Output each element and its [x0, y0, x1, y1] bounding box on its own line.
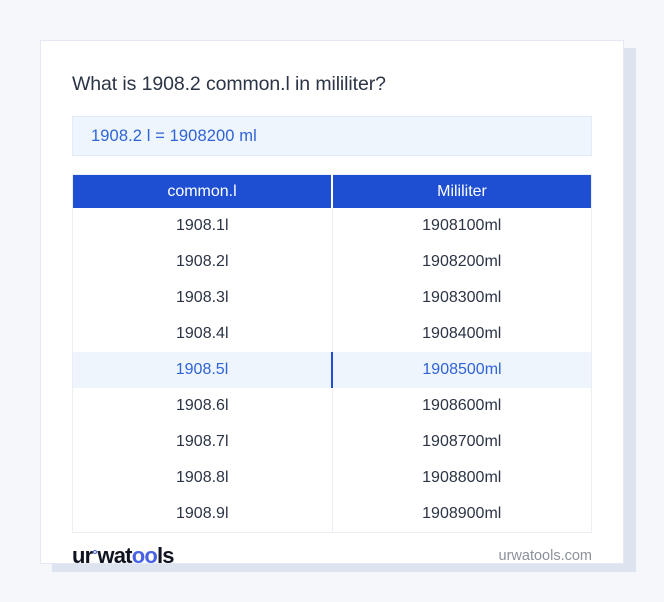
- table-row[interactable]: 1908.1l 1908100ml: [73, 208, 592, 244]
- cell-from: 1908.9l: [73, 496, 333, 533]
- cell-from: 1908.4l: [73, 316, 333, 352]
- table-row[interactable]: 1908.3l 1908300ml: [73, 280, 592, 316]
- table-header: common.l Mililiter: [73, 175, 592, 209]
- conversion-card: What is 1908.2 common.l in mililiter? 19…: [40, 40, 624, 564]
- cell-to: 1908400ml: [332, 316, 592, 352]
- cell-from: 1908.8l: [73, 460, 333, 496]
- table-row-highlighted[interactable]: 1908.5l 1908500ml: [73, 352, 592, 388]
- cell-to: 1908100ml: [332, 208, 592, 244]
- logo-part-ur: ur: [72, 545, 92, 567]
- logo-part-wat: wat: [97, 545, 131, 567]
- cell-from: 1908.1l: [73, 208, 333, 244]
- cell-from: 1908.7l: [73, 424, 333, 460]
- table-row[interactable]: 1908.8l 1908800ml: [73, 460, 592, 496]
- card-content: What is 1908.2 common.l in mililiter? 19…: [41, 41, 623, 533]
- column-header-mililiter: Mililiter: [332, 175, 592, 209]
- logo-part-oo: oo: [132, 545, 157, 567]
- cell-from: 1908.2l: [73, 244, 333, 280]
- table-row[interactable]: 1908.9l 1908900ml: [73, 496, 592, 533]
- cell-to: 1908600ml: [332, 388, 592, 424]
- table-row[interactable]: 1908.2l 1908200ml: [73, 244, 592, 280]
- cell-to: 1908900ml: [332, 496, 592, 533]
- card-footer: urwatools urwatools.com: [41, 533, 623, 569]
- cell-to: 1908500ml: [332, 352, 592, 388]
- degree-dot-icon: [93, 550, 97, 554]
- conversion-table: common.l Mililiter 1908.1l 1908100ml 190…: [72, 174, 592, 533]
- column-header-common-l: common.l: [73, 175, 333, 209]
- table-row[interactable]: 1908.4l 1908400ml: [73, 316, 592, 352]
- brand-logo[interactable]: urwatools: [72, 545, 174, 567]
- cell-to: 1908200ml: [332, 244, 592, 280]
- table-body: 1908.1l 1908100ml 1908.2l 1908200ml 1908…: [73, 208, 592, 533]
- table-row[interactable]: 1908.7l 1908700ml: [73, 424, 592, 460]
- logo-part-ls: ls: [157, 545, 174, 567]
- cell-from: 1908.3l: [73, 280, 333, 316]
- cell-to: 1908700ml: [332, 424, 592, 460]
- cell-to: 1908300ml: [332, 280, 592, 316]
- table-row[interactable]: 1908.6l 1908600ml: [73, 388, 592, 424]
- conversion-result-box: 1908.2 l = 1908200 ml: [72, 116, 592, 156]
- page-title: What is 1908.2 common.l in mililiter?: [72, 71, 592, 97]
- conversion-result-text: 1908.2 l = 1908200 ml: [91, 127, 257, 146]
- table-header-row: common.l Mililiter: [73, 175, 592, 209]
- cell-to: 1908800ml: [332, 460, 592, 496]
- page-root: What is 1908.2 common.l in mililiter? 19…: [0, 0, 664, 602]
- cell-from: 1908.6l: [73, 388, 333, 424]
- footer-domain-label: urwatools.com: [499, 548, 592, 564]
- cell-from: 1908.5l: [73, 352, 333, 388]
